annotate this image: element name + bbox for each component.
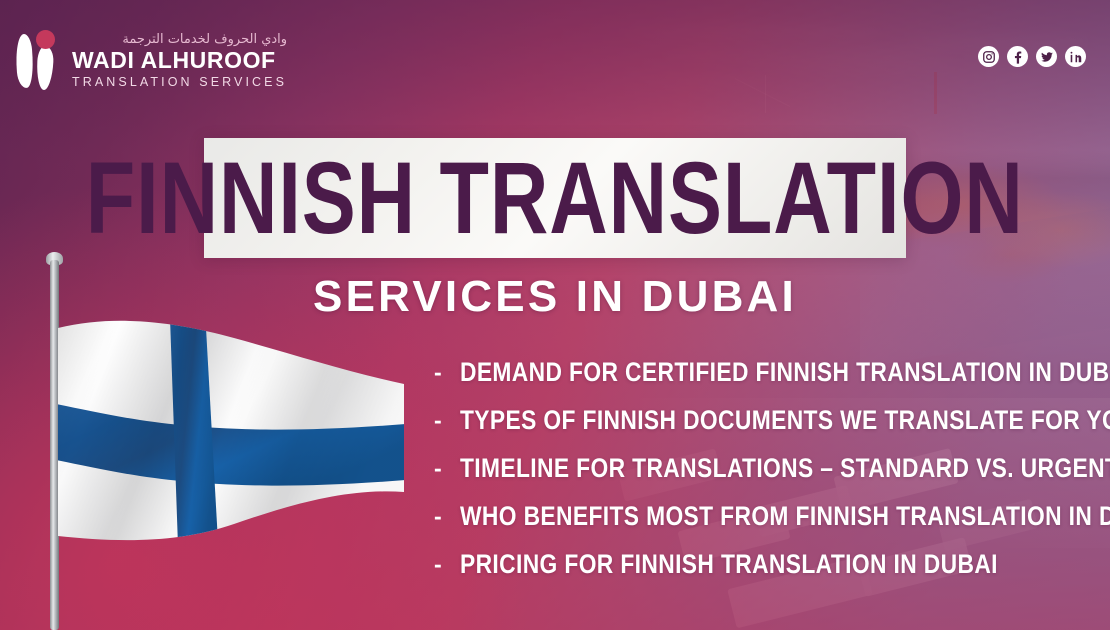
list-item[interactable]: - DEMAND FOR CERTIFIED FINNISH TRANSLATI…: [434, 361, 1074, 409]
list-item[interactable]: - PRICING FOR FINNISH TRANSLATION IN DUB…: [434, 553, 1074, 601]
flag-cloth: [56, 292, 406, 572]
list-item-label: TYPES OF FINNISH DOCUMENTS WE TRANSLATE …: [460, 408, 1110, 435]
banner: وادي الحروف لخدمات الترجمة WADI ALHUROOF…: [0, 0, 1110, 630]
social-links: [978, 46, 1086, 67]
list-item-label: PRICING FOR FINNISH TRANSLATION IN DUBAI: [460, 552, 998, 579]
twitter-icon[interactable]: [1036, 46, 1057, 67]
brand-text: وادي الحروف لخدمات الترجمة WADI ALHUROOF…: [72, 33, 287, 89]
list-item[interactable]: - TYPES OF FINNISH DOCUMENTS WE TRANSLAT…: [434, 409, 1074, 457]
brand-logo[interactable]: وادي الحروف لخدمات الترجمة WADI ALHUROOF…: [14, 30, 287, 92]
logo-mark-icon: [14, 30, 62, 92]
bullet-dash: -: [434, 505, 448, 528]
bullet-dash: -: [434, 457, 448, 480]
bullet-dash: -: [434, 553, 448, 576]
brand-name: WADI ALHUROOF: [72, 49, 287, 72]
page-subtitle: SERVICES IN DUBAI: [204, 272, 906, 322]
list-item[interactable]: - WHO BENEFITS MOST FROM FINNISH TRANSLA…: [434, 505, 1074, 553]
facebook-icon[interactable]: [1007, 46, 1028, 67]
list-item[interactable]: - TIMELINE FOR TRANSLATIONS – STANDARD V…: [434, 457, 1074, 505]
brand-tagline: TRANSLATION SERVICES: [72, 76, 287, 89]
instagram-icon[interactable]: [978, 46, 999, 67]
logo-leaf-left: [14, 33, 36, 88]
list-item-label: TIMELINE FOR TRANSLATIONS – STANDARD VS.…: [460, 456, 1110, 483]
brand-arabic-name: وادي الحروف لخدمات الترجمة: [72, 33, 287, 46]
logo-dot: [36, 30, 55, 49]
page-title: FINNISH TRANSLATION: [86, 147, 1024, 249]
bullet-dash: -: [434, 409, 448, 432]
topic-list: - DEMAND FOR CERTIFIED FINNISH TRANSLATI…: [434, 361, 1074, 601]
list-item-label: DEMAND FOR CERTIFIED FINNISH TRANSLATION…: [460, 360, 1110, 387]
bullet-dash: -: [434, 361, 448, 384]
list-item-label: WHO BENEFITS MOST FROM FINNISH TRANSLATI…: [460, 504, 1110, 531]
logo-leaf-right: [36, 46, 54, 91]
linkedin-icon[interactable]: [1065, 46, 1086, 67]
title-banner: FINNISH TRANSLATION: [204, 138, 906, 258]
